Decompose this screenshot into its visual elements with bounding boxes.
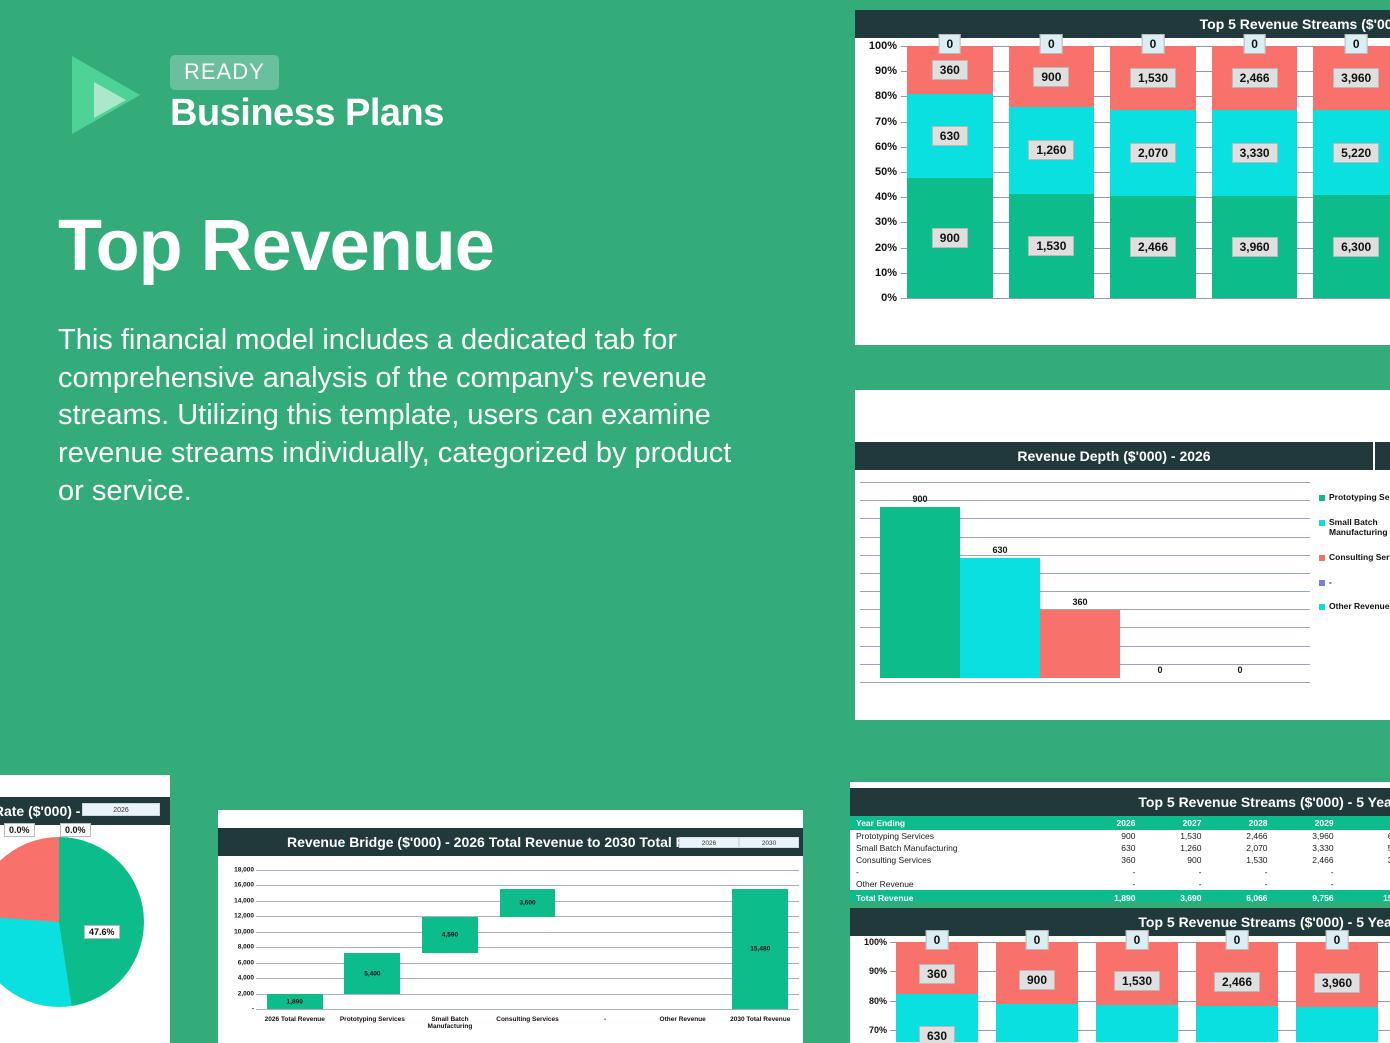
y-tick-label: 70% (869, 1025, 887, 1035)
legend-swatch (1319, 495, 1325, 501)
table-row: Other Revenue----- (850, 878, 1390, 890)
stacked-bar-column[interactable]: 2,4660 (1196, 942, 1278, 1042)
waterfall-column[interactable]: 5,400 (334, 870, 412, 1009)
waterfall-column[interactable]: 4,590 (411, 870, 489, 1009)
depth-bar-column[interactable]: 900 (880, 496, 960, 678)
bar-segment: 2,466 (1110, 196, 1196, 298)
bar-segment-small-batch (996, 1004, 1078, 1042)
top-stacked-bars: 36063090009001,2601,53001,5302,0702,4660… (907, 46, 1390, 298)
depth-bar-column[interactable]: 630 (960, 496, 1040, 678)
pie-label-dash: 0.0% (60, 823, 91, 837)
waterfall-column[interactable] (644, 870, 722, 1009)
table-cell: 360 (1075, 854, 1141, 866)
depth-bar-column[interactable]: 0 (1120, 496, 1200, 678)
gridline (860, 482, 1310, 483)
table-cell: 2,466 (1207, 830, 1273, 842)
y-tick-label: 70% (875, 116, 897, 128)
bottom-stacked-plot: 100%90%80%70% 360063090001,53002,46603,9… (850, 942, 1390, 1037)
bar-value-label: 360 (932, 60, 968, 80)
table-cell: 1,260 (1141, 842, 1207, 854)
legend-swatch (1319, 604, 1325, 610)
bar-value-label: 900 (932, 228, 968, 248)
stacked-bar-column[interactable]: 9000 (996, 942, 1078, 1042)
bar-value-label: 0 (1157, 665, 1162, 675)
table-header-row: Year Ending20262027202820292030 (850, 816, 1390, 830)
table-cell: 3,960 (1340, 854, 1390, 866)
bar-zero-label: 0 (1040, 34, 1063, 54)
bar-value-label: 900 (912, 494, 927, 504)
table-column-header: 2026 (1075, 816, 1141, 830)
revenue-bridge-y-axis: 18,00016,00014,00012,00010,0008,0006,000… (222, 870, 256, 1009)
revenue-depth-bars: 90063036000 (880, 496, 1310, 678)
table-cell: - (1340, 878, 1390, 890)
bar-value-label: 5,400 (364, 970, 380, 977)
x-tick-label: Small Batch Manufacturing (411, 1016, 489, 1030)
bar-zero-label: 0 (1126, 930, 1149, 950)
bar-segment-small-batch (1096, 1005, 1178, 1042)
waterfall-column[interactable] (566, 870, 644, 1009)
y-tick-label: 10,000 (234, 928, 254, 935)
table-cell: 900 (1075, 830, 1141, 842)
run-rate-year-selector[interactable]: 2026 (82, 803, 160, 816)
table-column-header: 2027 (1141, 816, 1207, 830)
bar-segment: 900 (1009, 46, 1095, 107)
bar-value-label: 1,530 (1028, 236, 1074, 256)
legend-item: Prototyping Services (1319, 492, 1390, 503)
depth-bar-column[interactable]: 360 (1040, 496, 1120, 678)
table-total-cell: 6,066 (1207, 890, 1273, 902)
revenue-bridge-year-selectors: 2026 2030 (679, 837, 799, 848)
y-tick-label: 2,000 (238, 990, 254, 997)
stacked-bar-column[interactable]: 1,5300 (1096, 942, 1178, 1042)
top-stacked-y-axis: 100%90%80%70%60%50%40%30%20%10%0% (855, 46, 901, 298)
table-total-cell: 1,890 (1075, 890, 1141, 902)
bar-segment: 5,220 (1313, 110, 1390, 195)
y-tick-label: 60% (875, 141, 897, 153)
pie-label-prototyping: 47.6% (84, 925, 120, 939)
stacked-bar-column[interactable]: 3606309000 (907, 46, 993, 298)
table-cell: 900 (1141, 854, 1207, 866)
ready-badge: READY (170, 55, 279, 90)
five-year-table-panel: Top 5 Revenue Streams ($'000) - 5 Years … (850, 782, 1390, 902)
table-cell: 6,300 (1340, 830, 1390, 842)
table-cell: 630 (1075, 842, 1141, 854)
gridline (901, 298, 1390, 299)
play-triangle-icon (72, 56, 152, 134)
legend-label: Consulting Services (1329, 552, 1390, 563)
x-tick-label: 2026 Total Revenue (256, 1016, 334, 1030)
waterfall-bar: 3,600 (500, 889, 556, 917)
bottom-stacked-bars: 360063090001,53002,46603,9600 (896, 942, 1390, 1042)
bar-segment: 900 (907, 178, 993, 298)
stacked-bar-column[interactable]: 2,4663,3303,9600 (1212, 46, 1298, 298)
page-title: Top Revenue (58, 205, 494, 287)
bar-zero-label: 0 (1243, 34, 1266, 54)
bar-value-label: 4,590 (442, 932, 458, 939)
table-row: Consulting Services3609001,5302,4663,960 (850, 854, 1390, 866)
depth-bar (1040, 610, 1120, 678)
y-tick-label: 20% (875, 242, 897, 254)
revenue-bridge-panel: Revenue Bridge ($'000) - 2026 Total Reve… (218, 810, 803, 1043)
bar-value-label: 630 (992, 545, 1007, 555)
top-stacked-chart-panel: Top 5 Revenue Streams ($'000) 100%90%80%… (855, 10, 1390, 345)
five-year-revenue-table: Year Ending20262027202820292030 Prototyp… (850, 816, 1390, 902)
bar-value-label: 6,300 (1333, 237, 1379, 257)
brand-lockup: READY Business Plans (72, 55, 444, 136)
legend-swatch (1319, 580, 1325, 586)
table-row: ------ (850, 866, 1390, 878)
y-tick-label: 0% (881, 292, 897, 304)
legend-label: Small Batch Manufacturing (1329, 517, 1390, 538)
top-stacked-chart-title: Top 5 Revenue Streams ($'000) (855, 10, 1390, 38)
waterfall-column[interactable]: 1,890 (256, 870, 334, 1009)
table-cell: 3,960 (1274, 830, 1340, 842)
table-row-label: Small Batch Manufacturing (850, 842, 1075, 854)
table-column-header: 2028 (1207, 816, 1273, 830)
table-row-label: - (850, 866, 1075, 878)
depth-bar (960, 558, 1040, 678)
y-tick-label: 16,000 (234, 882, 254, 889)
bar-segment-consulting: 3,9600 (1296, 942, 1378, 1007)
table-row: Small Batch Manufacturing6301,2602,0703,… (850, 842, 1390, 854)
revenue-depth-header: Revenue Depth ($'000) - 2026 (855, 442, 1390, 470)
bar-value-label: 3,960 (1232, 237, 1278, 257)
table-cell: - (1340, 866, 1390, 878)
waterfall-bar: 4,590 (422, 917, 478, 952)
x-tick-label: Other Revenue (644, 1016, 722, 1030)
revenue-bridge-bars: 1,8905,4004,5903,60015,480 (256, 870, 799, 1009)
bar-value-label: 0 (1237, 665, 1242, 675)
table-cell: 5,220 (1340, 842, 1390, 854)
depth-bar-column[interactable]: 0 (1200, 496, 1280, 678)
stacked-bar-column[interactable]: 3600630 (896, 942, 978, 1042)
bar-segment-small-batch: 630 (896, 994, 978, 1042)
table-cell: - (1141, 878, 1207, 890)
bar-segment: 1,260 (1009, 107, 1095, 193)
x-tick-label: 2030 Total Revenue (721, 1016, 799, 1030)
bar-zero-label: 0 (1142, 34, 1165, 54)
top-stacked-plot: 100%90%80%70%60%50%40%30%20%10%0% 360630… (855, 46, 1390, 314)
run-rate-pie-chart: 0.0% 0.0% 19.0% 47.6% (0, 837, 144, 1007)
bar-zero-label: 0 (1026, 930, 1049, 950)
stacked-bar-column[interactable]: 9001,2601,5300 (1009, 46, 1095, 298)
bar-value-label: 360 (1072, 597, 1087, 607)
legend-item: - (1319, 577, 1390, 588)
y-tick-label: 6,000 (238, 959, 254, 966)
bar-value-label: 2,466 (1130, 237, 1176, 257)
y-tick-label: 8,000 (238, 944, 254, 951)
y-tick-label: 80% (875, 90, 897, 102)
legend-item: Consulting Services (1319, 552, 1390, 563)
table-column-header: Year Ending (850, 816, 1075, 830)
table-total-cell: 15,480 (1340, 890, 1390, 902)
bar-value-label: 3,960 (1333, 68, 1379, 88)
table-total-row: Total Revenue1,8903,6906,0669,75615,480 (850, 890, 1390, 902)
bottom-stacked-y-axis: 100%90%80%70% (850, 942, 890, 1030)
legend-item: Other Revenue (1319, 601, 1390, 612)
y-tick-label: 30% (875, 216, 897, 228)
y-tick-label: 100% (864, 937, 887, 947)
waterfall-bar: 1,890 (267, 994, 323, 1009)
bar-segment-consulting: 9000 (996, 942, 1078, 1004)
table-cell: - (1207, 878, 1273, 890)
table-row-label: Prototyping Services (850, 830, 1075, 842)
revenue-depth-title-spacer (1373, 442, 1390, 470)
bar-segment-small-batch (1196, 1006, 1278, 1042)
legend-swatch (1319, 555, 1325, 561)
table-cell: 3,330 (1274, 842, 1340, 854)
table-cell: - (1075, 866, 1141, 878)
y-tick-label: 90% (869, 966, 887, 976)
table-cell: 1,530 (1207, 854, 1273, 866)
stacked-bar-column[interactable]: 3,9605,2206,3000 (1313, 46, 1390, 298)
revenue-depth-legend: Prototyping ServicesSmall Batch Manufact… (1315, 470, 1390, 685)
table-cell: - (1141, 866, 1207, 878)
waterfall-bar: 15,480 (732, 889, 788, 1009)
bar-segment: 6,300 (1313, 195, 1390, 298)
waterfall-bar: 5,400 (344, 953, 400, 995)
table-row-label: Consulting Services (850, 854, 1075, 866)
revenue-depth-title: Revenue Depth ($'000) - 2026 (855, 442, 1373, 470)
table-row-label: Other Revenue (850, 878, 1075, 890)
legend-label: Prototyping Services (1329, 492, 1390, 503)
legend-label: Other Revenue (1329, 601, 1389, 612)
table-row: Prototyping Services9001,5302,4663,9606,… (850, 830, 1390, 842)
bar-value-label: 630 (919, 1026, 955, 1043)
bar-value-label: 5,220 (1333, 143, 1379, 163)
bar-value-label: 2,070 (1130, 143, 1176, 163)
bar-segment: 630 (907, 94, 993, 178)
bar-segment: 3,960 (1313, 46, 1390, 110)
depth-bar (880, 507, 960, 678)
revenue-bridge-plot: 18,00016,00014,00012,00010,0008,0006,000… (222, 870, 799, 1025)
table-cell: - (1075, 878, 1141, 890)
bar-segment: 3,330 (1212, 110, 1298, 196)
page-description: This financial model includes a dedicate… (58, 322, 758, 510)
waterfall-column[interactable]: 15,480 (721, 870, 799, 1009)
bar-zero-label: 0 (1345, 34, 1368, 54)
table-body: Prototyping Services9001,5302,4663,9606,… (850, 830, 1390, 902)
bottom-stacked-chart-panel: Top 5 Revenue Streams ($'000) - 5 Years … (850, 908, 1390, 1043)
table-cell: 2,466 (1274, 854, 1340, 866)
x-tick-label: Consulting Services (489, 1016, 567, 1030)
bar-value-label: 3,960 (1314, 973, 1360, 993)
table-cell: 2,070 (1207, 842, 1273, 854)
bar-value-label: 2,466 (1214, 972, 1260, 992)
y-tick-label: 18,000 (234, 867, 254, 874)
bridge-selector-end[interactable]: 2030 (739, 837, 799, 848)
legend-item: Small Batch Manufacturing (1319, 517, 1390, 538)
bar-value-label: 360 (919, 964, 955, 984)
revenue-depth-plot: 90063036000 (860, 478, 1310, 685)
bar-value-label: 3,330 (1232, 143, 1278, 163)
y-tick-label: 40% (875, 191, 897, 203)
table-column-header: 2029 (1274, 816, 1340, 830)
waterfall-column[interactable]: 3,600 (489, 870, 567, 1009)
gridline (256, 1009, 799, 1010)
bar-value-label: 900 (1033, 67, 1069, 87)
table-cell: 1,530 (1141, 830, 1207, 842)
bar-zero-label: 0 (1326, 930, 1349, 950)
bar-value-label: 900 (1019, 970, 1055, 990)
gridline (860, 682, 1310, 683)
y-tick-label: - (252, 1006, 254, 1013)
bar-zero-label: 0 (938, 34, 961, 54)
y-tick-label: 4,000 (238, 975, 254, 982)
bar-segment: 2,070 (1110, 110, 1196, 196)
revenue-bridge-x-axis: 2026 Total RevenuePrototyping ServicesSm… (256, 1016, 799, 1030)
bar-segment-consulting: 2,4660 (1196, 942, 1278, 1006)
y-tick-label: 80% (869, 996, 887, 1006)
bar-zero-label: 0 (1226, 930, 1249, 950)
table-total-cell: 9,756 (1274, 890, 1340, 902)
legend-swatch (1319, 520, 1325, 526)
bar-value-label: 1,530 (1130, 68, 1176, 88)
bar-segment-consulting: 1,5300 (1096, 942, 1178, 1005)
table-cell: - (1274, 866, 1340, 878)
bar-value-label: 1,890 (287, 998, 303, 1005)
five-year-table-title: Top 5 Revenue Streams ($'000) - 5 Years (850, 788, 1390, 816)
bar-value-label: 15,480 (750, 946, 770, 953)
bar-segment: 3,960 (1212, 196, 1298, 298)
y-tick-label: 12,000 (234, 913, 254, 920)
legend-label: - (1329, 577, 1332, 588)
table-cell: - (1207, 866, 1273, 878)
bar-segment: 2,466 (1212, 46, 1298, 110)
revenue-depth-panel: Revenue Depth ($'000) - 2026 90063036000… (855, 390, 1390, 720)
y-tick-label: 50% (875, 166, 897, 178)
bar-value-label: 1,530 (1114, 971, 1160, 991)
run-rate-pie-panel: Run-Rate ($'000) - 2026 2026 0.0% 0.0% 1… (0, 775, 170, 1043)
table-total-cell: 3,690 (1141, 890, 1207, 902)
y-tick-label: 10% (875, 267, 897, 279)
bar-value-label: 630 (932, 126, 968, 146)
y-tick-label: 100% (869, 40, 897, 52)
bar-zero-label: 0 (926, 930, 949, 950)
bar-segment-small-batch (1296, 1007, 1378, 1042)
table-column-header: 2030 (1340, 816, 1390, 830)
x-tick-label: Prototyping Services (334, 1016, 412, 1030)
y-tick-label: 14,000 (234, 897, 254, 904)
bar-value-label: 2,466 (1232, 68, 1278, 88)
bar-segment: 1,530 (1009, 194, 1095, 298)
bar-segment-consulting: 3600 (896, 942, 978, 994)
brand-name: Business Plans (170, 92, 444, 136)
stacked-bar-column[interactable]: 3,9600 (1296, 942, 1378, 1042)
pie-label-other: 0.0% (4, 823, 35, 837)
stacked-bar-column[interactable]: 1,5302,0702,4660 (1110, 46, 1196, 298)
table-cell: - (1274, 878, 1340, 890)
bar-segment: 1,530 (1110, 46, 1196, 110)
x-tick-label: - (566, 1016, 644, 1030)
bar-value-label: 3,600 (519, 900, 535, 907)
y-tick-label: 90% (875, 65, 897, 77)
bar-value-label: 1,260 (1028, 140, 1074, 160)
bridge-selector-start[interactable]: 2026 (679, 837, 739, 848)
table-total-label: Total Revenue (850, 890, 1075, 902)
pie-disc (0, 837, 144, 1007)
